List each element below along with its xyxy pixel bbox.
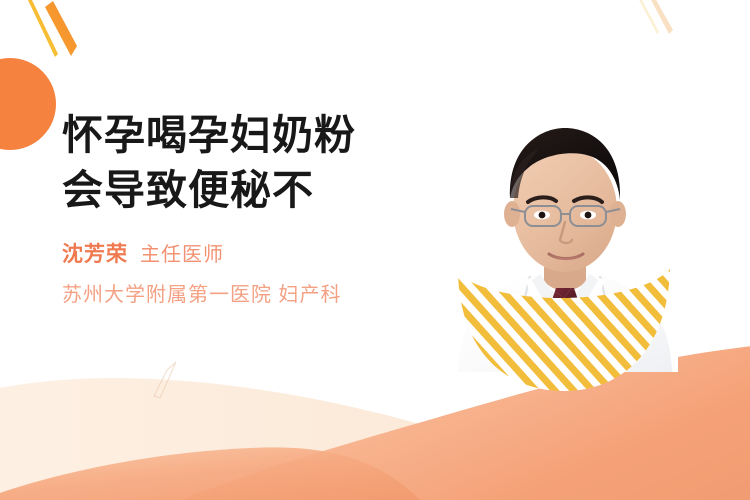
- doctor-name: 沈芳荣: [62, 243, 128, 266]
- promo-card: 怀孕喝孕妇奶粉 会导致便秘不 沈芳荣主任医师 苏州大学附属第一医院 妇产科: [0, 0, 750, 500]
- diagonal-stroke-top-right: [638, 0, 673, 34]
- portrait-composition: [432, 88, 732, 388]
- striped-semicircle-icon: [454, 263, 674, 393]
- title-line-1: 怀孕喝孕妇奶粉: [62, 108, 422, 163]
- doctor-affiliation: 苏州大学附属第一医院 妇产科: [62, 282, 422, 308]
- text-block: 怀孕喝孕妇奶粉 会导致便秘不 沈芳荣主任医师 苏州大学附属第一医院 妇产科: [62, 108, 422, 308]
- title-line-2: 会导致便秘不: [62, 163, 422, 218]
- doctor-name-row: 沈芳荣主任医师: [62, 242, 422, 270]
- diagonal-stroke-top-left: [27, 0, 77, 57]
- doctor-rank: 主任医师: [140, 244, 224, 266]
- doctor-meta: 沈芳荣主任医师 苏州大学附属第一医院 妇产科: [62, 242, 422, 308]
